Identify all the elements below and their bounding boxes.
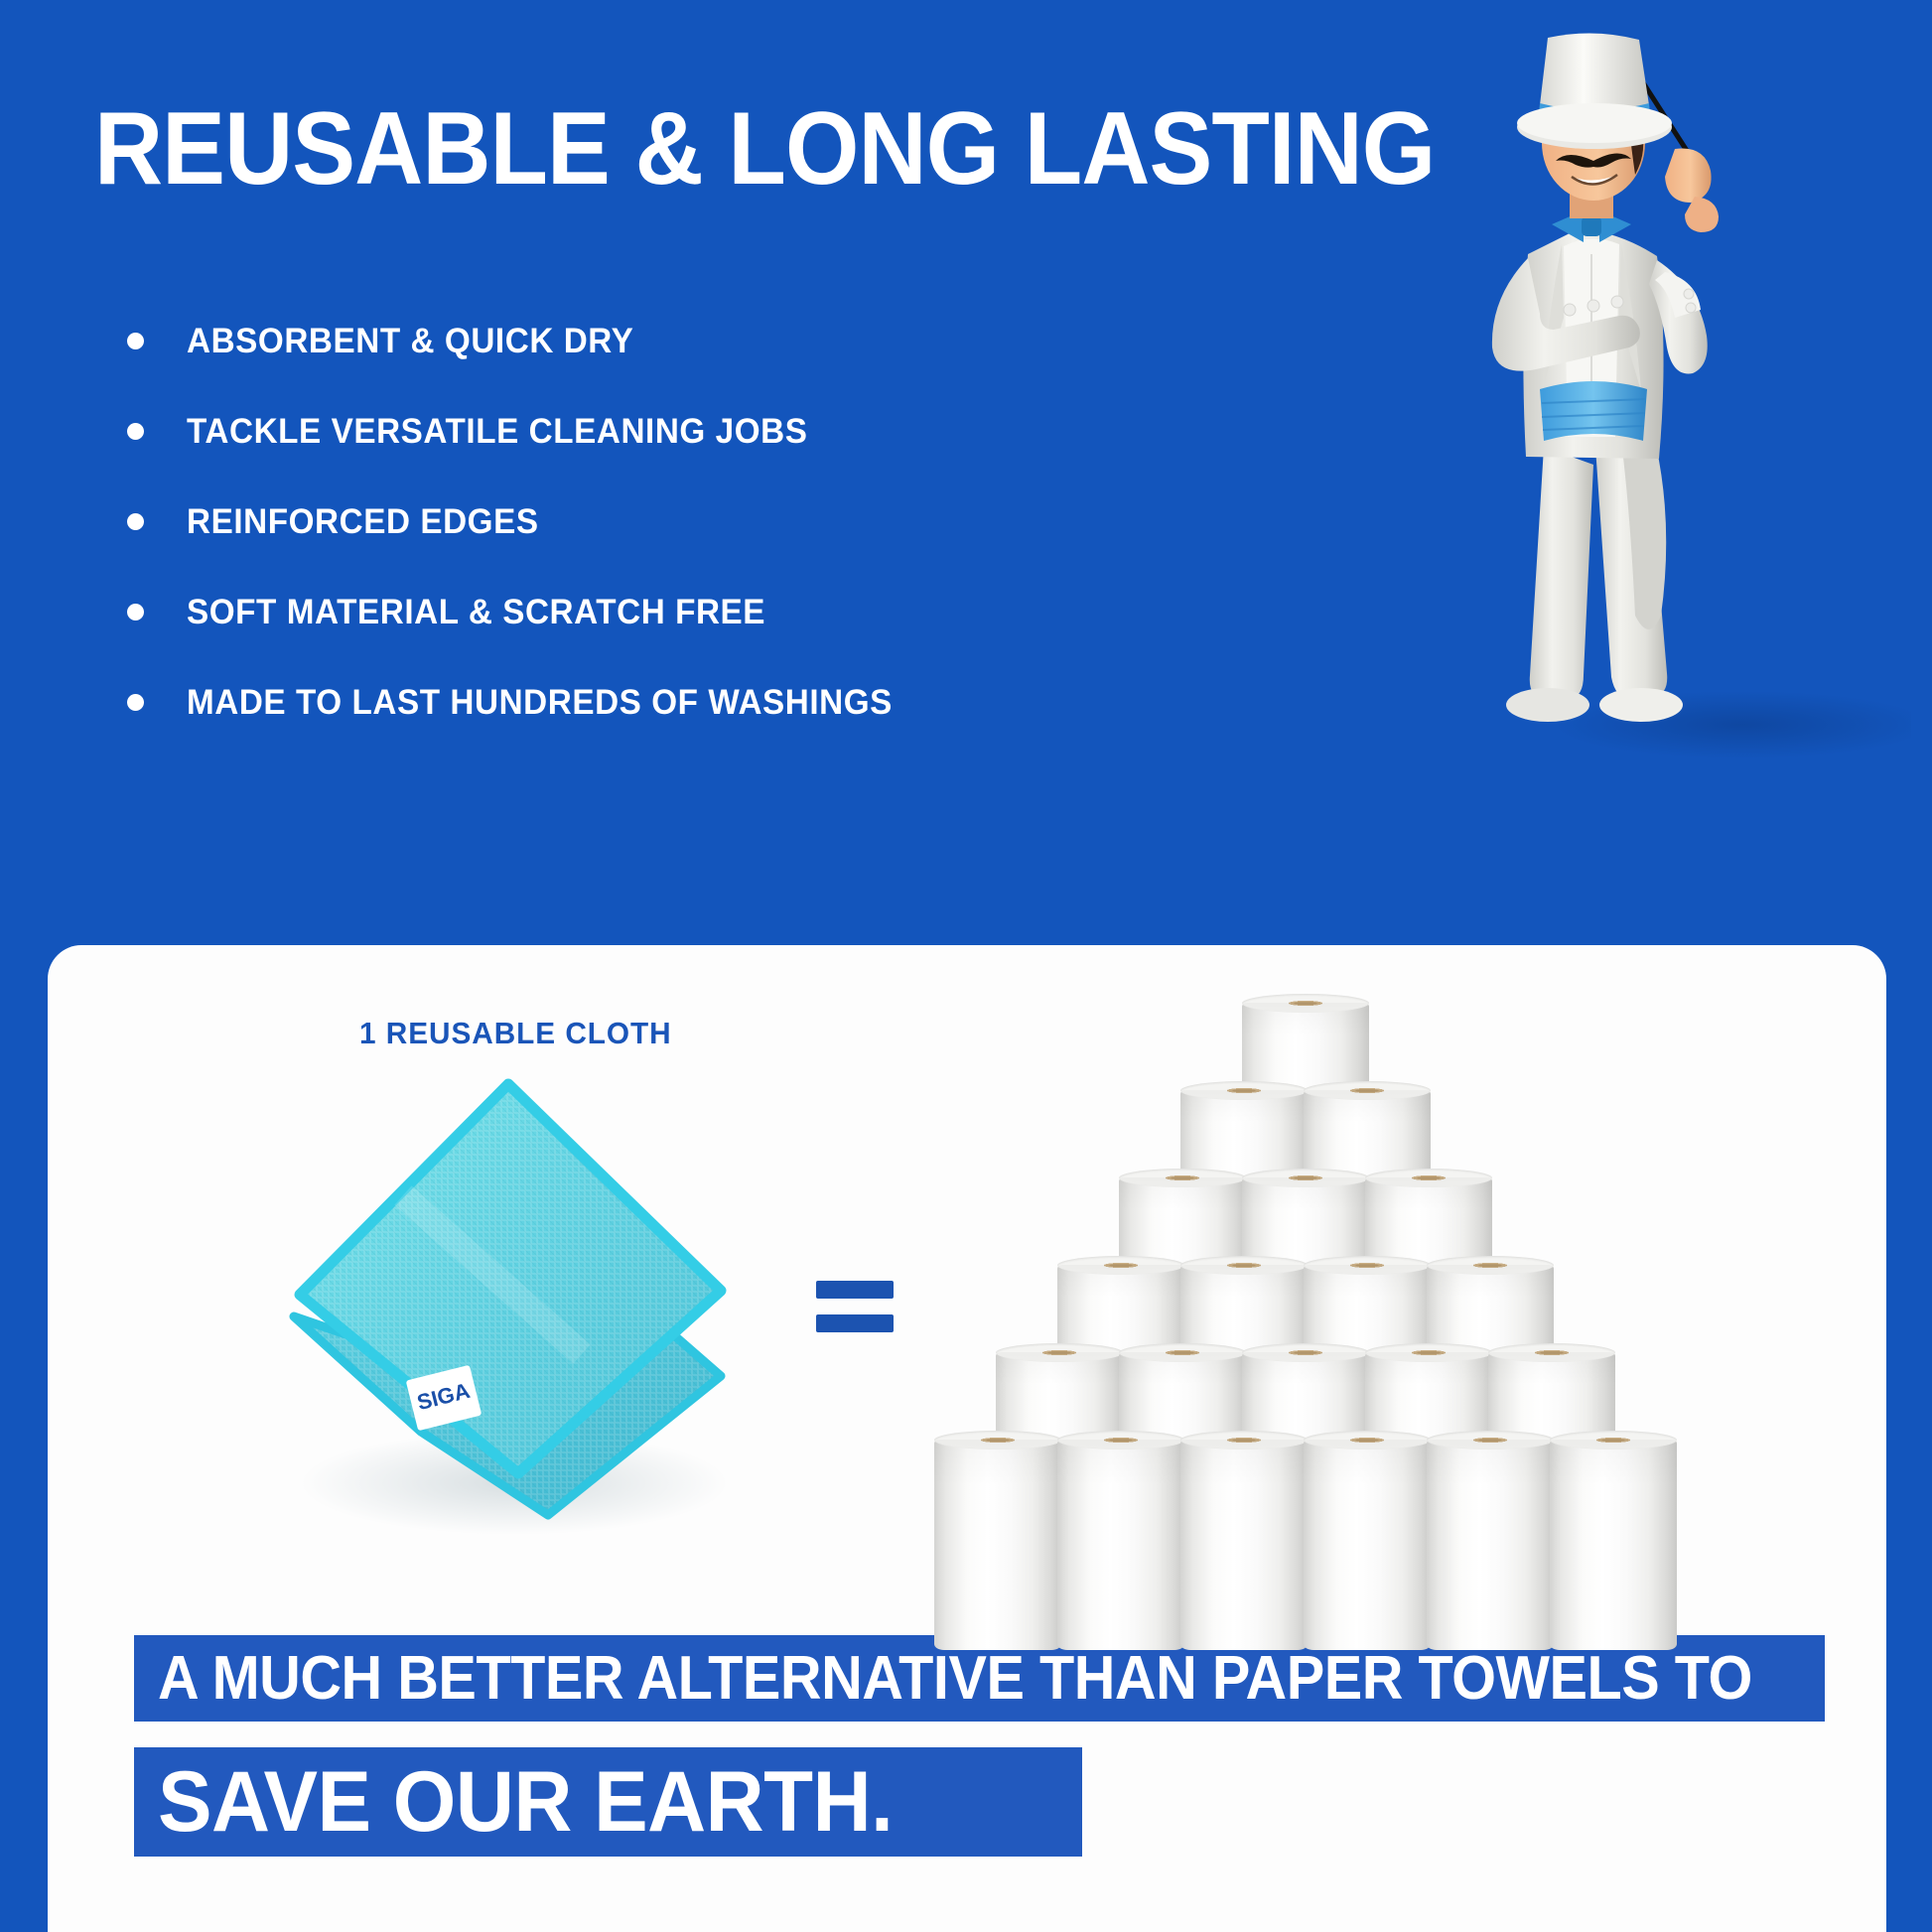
paper-towel-roll [934, 1440, 1061, 1650]
paper-towel-roll-pyramid [948, 1003, 1663, 1579]
list-item: MADE TO LAST HUNDREDS OF WASHINGS [127, 657, 1170, 748]
bullet-dot-icon [127, 513, 144, 530]
feature-label: MADE TO LAST HUNDREDS OF WASHINGS [187, 683, 893, 723]
paper-towel-roll [1057, 1440, 1184, 1650]
footer-text-line2: SAVE OUR EARTH. [158, 1753, 893, 1852]
equals-sign-icon [816, 1281, 894, 1340]
bullet-dot-icon [127, 333, 144, 349]
roll-row [948, 1440, 1663, 1650]
list-item: REINFORCED EDGES [127, 477, 1170, 567]
feature-label: REINFORCED EDGES [187, 502, 539, 542]
paper-towel-roll [1180, 1440, 1308, 1650]
paper-towel-roll [1427, 1440, 1554, 1650]
bullet-dot-icon [127, 423, 144, 440]
paper-towel-roll [1304, 1440, 1431, 1650]
reusable-cloth-image: SIGA [254, 1056, 770, 1553]
feature-list: ABSORBENT & QUICK DRY TACKLE VERSATILE C… [127, 296, 1170, 748]
feature-label: ABSORBENT & QUICK DRY [187, 322, 633, 361]
list-item: TACKLE VERSATILE CLEANING JOBS [127, 386, 1170, 477]
page-title: REUSABLE & LONG LASTING [94, 95, 1435, 204]
bullet-dot-icon [127, 604, 144, 621]
footer-text-line1: A MUCH BETTER ALTERNATIVE THAN PAPER TOW… [158, 1643, 1752, 1714]
cloth-label: 1 REUSABLE CLOTH [359, 1016, 672, 1051]
footer-banner-line2: SAVE OUR EARTH. [134, 1747, 1082, 1857]
list-item: ABSORBENT & QUICK DRY [127, 296, 1170, 386]
feature-label: SOFT MATERIAL & SCRATCH FREE [187, 593, 765, 632]
paper-towel-roll [1550, 1440, 1677, 1650]
bullet-dot-icon [127, 694, 144, 711]
feature-label: TACKLE VERSATILE CLEANING JOBS [187, 412, 808, 452]
butler-mascot-icon [1445, 20, 1911, 913]
list-item: SOFT MATERIAL & SCRATCH FREE [127, 567, 1170, 657]
